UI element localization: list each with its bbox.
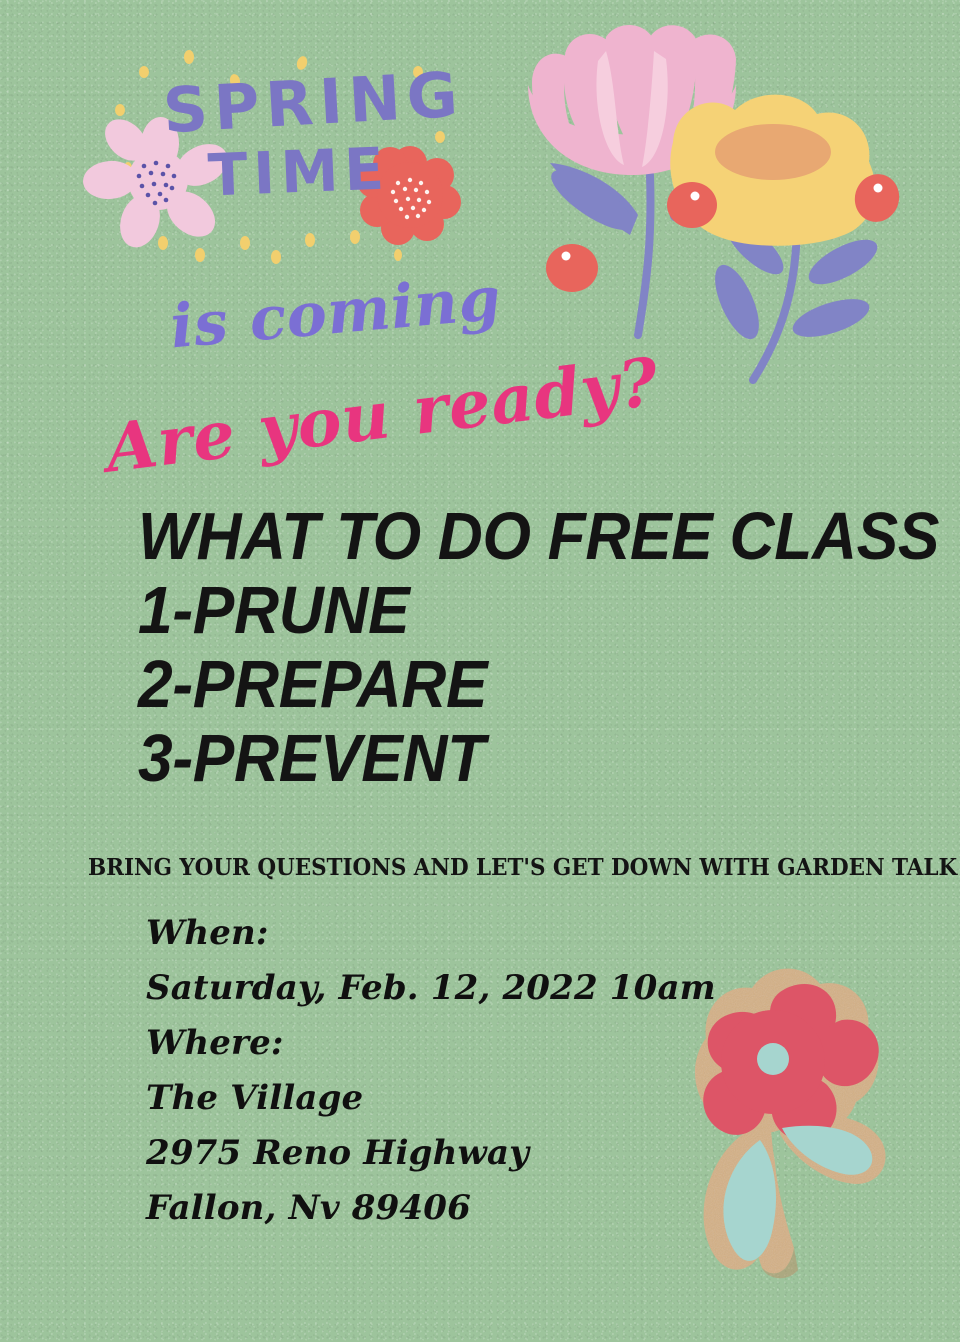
street-address: 2975 Reno Highway: [146, 1126, 666, 1181]
gold-confetti-dot: [435, 131, 445, 143]
subline-text: BRING YOUR QUESTIONS AND LET'S GET DOWN …: [88, 853, 811, 881]
title-time: TIME: [207, 135, 391, 210]
spring-class-flyer: SPRING TIME is coming Are you ready? WHA…: [0, 0, 960, 1342]
red-berry: [667, 182, 717, 228]
gold-confetti-dot: [115, 104, 125, 116]
when-value: Saturday, Feb. 12, 2022 10am: [146, 961, 666, 1016]
event-details-block: When: Saturday, Feb. 12, 2022 10am Where…: [146, 906, 666, 1236]
red-berries-group: [540, 180, 960, 330]
headline-line-1: WHAT TO DO FREE CLASS: [138, 500, 845, 574]
gold-confetti-dot: [271, 250, 281, 264]
gold-confetti-dot: [240, 236, 250, 250]
wood-flower-center: [757, 1043, 789, 1075]
yellow-flower-center: [715, 124, 831, 180]
gold-confetti-dot: [139, 66, 149, 78]
when-label: When:: [146, 906, 666, 961]
red-berry: [546, 244, 598, 292]
headline-line-3: 2-PREPARE: [138, 648, 845, 722]
headline-line-4: 3-PREVENT: [138, 722, 845, 796]
venue-name: The Village: [146, 1071, 666, 1126]
gold-confetti-dot: [195, 248, 205, 262]
gold-confetti-dot: [305, 233, 315, 247]
gold-confetti-dot: [184, 50, 194, 64]
headline-block: WHAT TO DO FREE CLASS 1-PRUNE 2-PREPARE …: [138, 500, 898, 796]
where-label: Where:: [146, 1016, 666, 1071]
gold-confetti-dot: [350, 230, 360, 244]
headline-line-2: 1-PRUNE: [138, 574, 845, 648]
city-state-zip: Fallon, Nv 89406: [146, 1181, 666, 1236]
gold-confetti-dot: [394, 249, 402, 261]
